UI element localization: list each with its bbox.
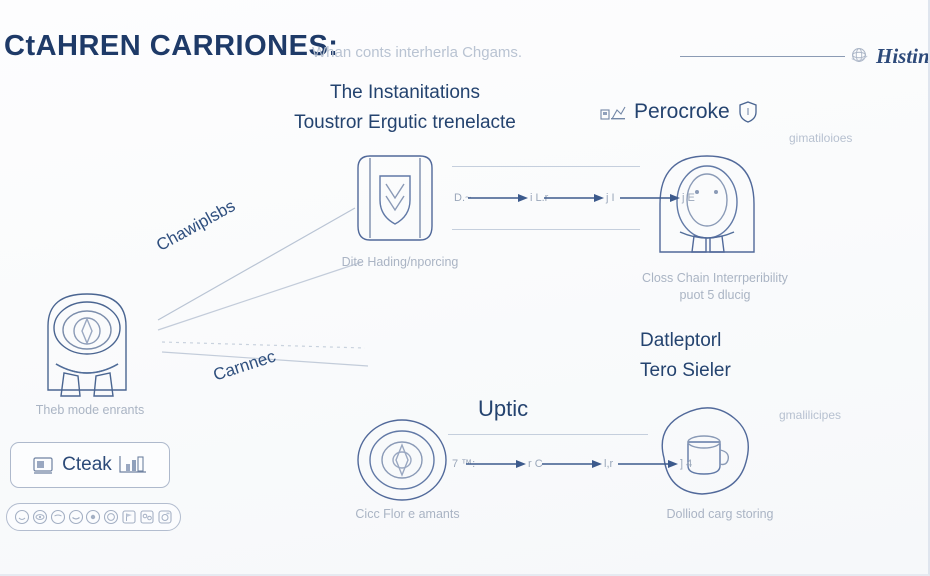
- lower-right-heading-line1: Datleptorl: [640, 326, 840, 356]
- lower-flow-token-2: l,r: [604, 458, 618, 470]
- top-middle-node-caption: Dite Hading/nporcing: [300, 254, 500, 271]
- header-subtitle: Whan conts interherla Chgams.: [312, 44, 522, 61]
- top-right-caption-line1: Closs Chain Interrperibility: [600, 270, 830, 287]
- mid-right-note: gimatiloioes: [789, 131, 852, 145]
- wink-circle-icon[interactable]: [68, 509, 84, 525]
- lower-flow-token-3: ] 4: [680, 458, 694, 470]
- arrow-right-icon: [466, 459, 528, 469]
- eye-circle-icon[interactable]: [32, 509, 48, 525]
- page-title: CtAHREN CARRIONES:: [4, 30, 338, 63]
- upper-flow: D.~ i L.r j I j E: [454, 192, 646, 204]
- upper-flow-rule-bottom: [452, 229, 640, 230]
- mid-right-heading-label: Perocroke: [634, 100, 730, 124]
- pair-square-icon[interactable]: [139, 509, 155, 525]
- monitor-icon: [32, 455, 56, 475]
- arrow-right-icon: [544, 193, 606, 203]
- left-node-caption: Theb mode enrants: [10, 402, 170, 419]
- cteak-button-label: Cteak: [62, 454, 112, 476]
- bottom-right-node-caption: Dolliod carg storing: [620, 506, 820, 523]
- upper-flow-token-2: j I: [606, 192, 620, 204]
- lower-right-heading: Datleptorl Tero Sieler: [640, 326, 840, 386]
- smile-circle-icon[interactable]: [50, 509, 66, 525]
- cup-blob-icon: [650, 400, 758, 500]
- upper-flow-rule: [452, 166, 640, 167]
- arrow-right-icon: [468, 193, 530, 203]
- lower-flow-title: Uptic: [478, 396, 528, 422]
- top-right-caption-line2: puot 5 dlucig: [600, 287, 830, 304]
- mid-right-heading: Perocroke: [600, 100, 758, 124]
- dot-circle-icon[interactable]: [85, 509, 101, 525]
- globe-emblem-icon: [848, 44, 870, 66]
- header-divider: [680, 56, 845, 57]
- lower-flow: 7 ™: r C l,r ] 4: [452, 458, 647, 470]
- diagram-canvas: CtAHREN CARRIONES: Whan conts interherla…: [0, 0, 930, 576]
- bottom-middle-node-caption: Cicc Flor e amants: [320, 506, 495, 523]
- upper-flow-token-1: i L.r: [530, 192, 544, 204]
- brand-wordmark: Histin: [876, 44, 930, 69]
- face-circle-icon[interactable]: [14, 509, 30, 525]
- dome-machine-icon: [20, 278, 155, 400]
- arch-dome-icon: [650, 148, 765, 258]
- upper-flow-token-3: j E: [682, 192, 696, 204]
- shield-icon: [738, 100, 758, 124]
- desk-chart-icon: [118, 454, 148, 476]
- top-middle-heading-line2: Toustror Ergutic trenelacte: [255, 108, 555, 138]
- lower-right-note: gmalilicipes: [779, 408, 841, 422]
- flag-square-icon[interactable]: [121, 509, 137, 525]
- lower-flow-token-1: r C: [528, 458, 542, 470]
- lower-flow-token-0: 7 ™:: [452, 458, 466, 470]
- cteak-button[interactable]: Cteak: [10, 442, 170, 488]
- icon-tray[interactable]: [6, 503, 181, 531]
- top-right-node-caption: Closs Chain Interrperibility puot 5 dluc…: [600, 270, 830, 304]
- arrow-right-icon: [620, 193, 682, 203]
- arrow-right-icon: [542, 459, 604, 469]
- cylinder-shield-icon: [340, 150, 450, 250]
- target-circle-icon[interactable]: [103, 509, 119, 525]
- lower-right-heading-line2: Tero Sieler: [640, 356, 840, 386]
- camera-square-icon[interactable]: [157, 509, 173, 525]
- upper-flow-token-0: D.~: [454, 192, 468, 204]
- top-middle-heading: The Instanitations Toustror Ergutic tren…: [255, 78, 555, 138]
- arrow-right-icon: [618, 459, 680, 469]
- chart-bars-icon: [600, 102, 626, 122]
- lower-flow-rule: [448, 434, 648, 435]
- top-middle-heading-line1: The Instanitations: [255, 78, 555, 108]
- ring-coil-icon: [350, 415, 455, 505]
